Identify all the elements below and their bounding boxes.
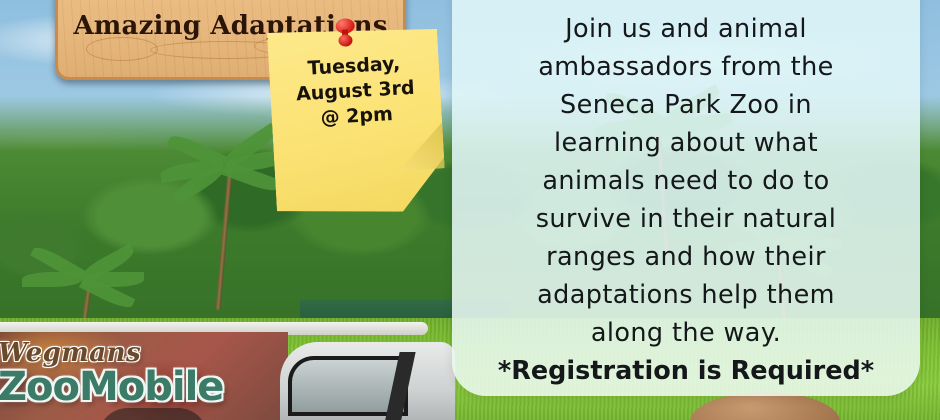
description-line-3: Seneca Park Zoo in [460, 86, 912, 124]
description-line-9: along the way. [460, 314, 912, 352]
description-line-8: adaptations help them [460, 276, 912, 314]
description-line-7: ranges and how their [460, 238, 912, 276]
description-line-1: Join us and animal [460, 10, 912, 48]
description-panel: Join us and animal ambassadors from the … [452, 0, 920, 396]
pushpin-base [338, 34, 353, 47]
description-line-4: learning about what [460, 124, 912, 162]
description-line-2: ambassadors from the [460, 48, 912, 86]
zoomobile-logo: Wegmans ZooMobile [0, 338, 248, 410]
poster-canvas: Wegmans ZooMobile Amazing Adaptations Tu… [0, 0, 940, 420]
description-line-6: survive in their natural [460, 200, 912, 238]
description-text: Join us and animal ambassadors from the … [460, 10, 912, 390]
sticky-note-text: Tuesday, August 3rd @ 2pm [268, 49, 442, 134]
pushpin-icon [334, 18, 356, 49]
zoomobile-van: Wegmans ZooMobile [0, 316, 458, 420]
zoomobile-wordmark: ZooMobile [0, 364, 248, 410]
sticky-note: Tuesday, August 3rd @ 2pm [267, 23, 447, 218]
registration-note: *Registration is Required* [460, 352, 912, 390]
description-line-5: animals need to do to [460, 162, 912, 200]
